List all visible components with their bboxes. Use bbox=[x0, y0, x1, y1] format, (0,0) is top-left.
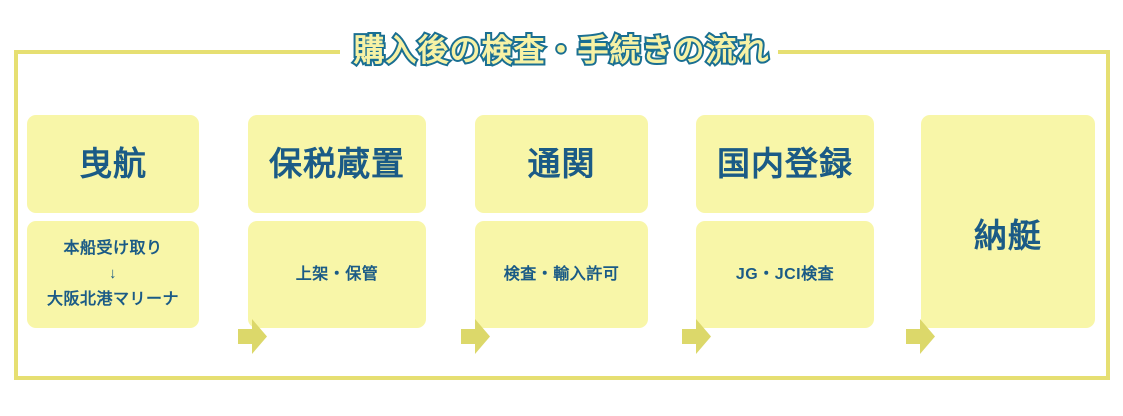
flow-step-detail-line: JG・JCI検査 bbox=[700, 262, 870, 288]
flow-step-heading: 曳航 bbox=[79, 145, 147, 183]
flow-step-heading-box: 保税蔵置 bbox=[248, 115, 426, 213]
flow-step-heading-box: 納艇 bbox=[921, 115, 1095, 328]
flow-step-detail-line: 大阪北港マリーナ bbox=[31, 287, 195, 313]
flow-step-detail-box: 本船受け取り ↓ 大阪北港マリーナ bbox=[27, 221, 199, 328]
arrow-right-icon bbox=[682, 319, 711, 354]
flow-steps-row: 曳航 本船受け取り ↓ 大阪北港マリーナ 保税蔵置 上架・保管 通関 検査・輸入… bbox=[27, 115, 1095, 328]
flow-step-customs: 通関 検査・輸入許可 bbox=[475, 115, 648, 328]
flow-step-heading-box: 曳航 bbox=[27, 115, 199, 213]
flow-step-detail-box: 上架・保管 bbox=[248, 221, 426, 328]
flow-step-heading: 国内登録 bbox=[717, 145, 853, 183]
flow-step-heading-box: 国内登録 bbox=[696, 115, 874, 213]
flow-step-detail-line: 上架・保管 bbox=[252, 262, 422, 288]
flow-step-heading: 通関 bbox=[528, 145, 596, 183]
flow-step-heading-box: 通関 bbox=[475, 115, 648, 213]
flow-step-heading: 納艇 bbox=[974, 209, 1042, 257]
arrow-right-icon bbox=[238, 319, 267, 354]
arrow-right-icon bbox=[461, 319, 490, 354]
flow-step-delivery: 納艇 bbox=[921, 115, 1095, 328]
flow-step-heading: 保税蔵置 bbox=[269, 145, 405, 183]
flow-step-domestic-registration: 国内登録 JG・JCI検査 bbox=[696, 115, 874, 328]
flow-step-detail-box: 検査・輸入許可 bbox=[475, 221, 648, 328]
flow-step-towing: 曳航 本船受け取り ↓ 大阪北港マリーナ bbox=[27, 115, 199, 328]
arrow-right-icon bbox=[906, 319, 935, 354]
flow-step-detail-line: 本船受け取り bbox=[31, 236, 195, 262]
flow-step-bonded-storage: 保税蔵置 上架・保管 bbox=[248, 115, 426, 328]
down-arrow-icon: ↓ bbox=[31, 262, 195, 286]
flow-step-detail-box: JG・JCI検査 bbox=[696, 221, 874, 328]
flow-step-detail-line: 検査・輸入許可 bbox=[479, 262, 644, 288]
